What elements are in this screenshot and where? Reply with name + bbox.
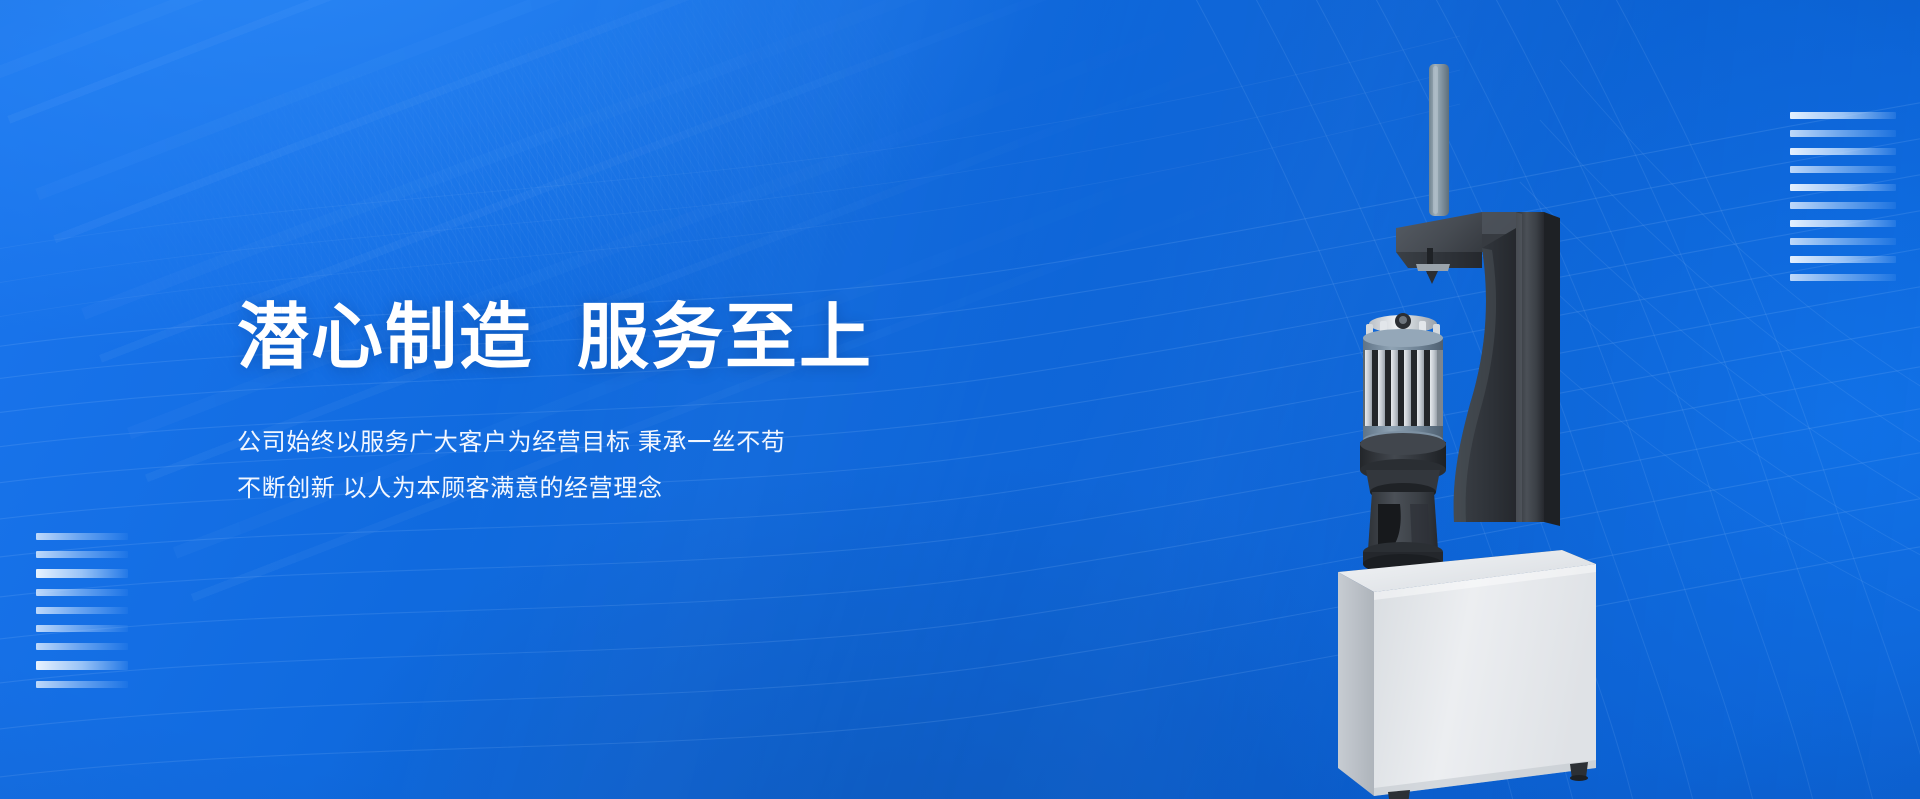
hero-subcopy-line-2: 不断创新 以人为本顾客满意的经营理念	[237, 466, 997, 512]
hero-copy-block: 潜心制造 服务至上 公司始终以服务广大客户为经营目标 秉承一丝不苟 不断创新 以…	[237, 300, 997, 512]
accent-bar	[36, 533, 128, 540]
machine-support-post	[1516, 212, 1560, 526]
accent-bar	[1790, 202, 1896, 209]
left-accent-bars	[36, 533, 128, 688]
right-accent-bars	[1790, 112, 1896, 281]
accent-bar	[36, 607, 128, 614]
accent-bar	[36, 681, 128, 688]
accent-bar	[1790, 112, 1896, 119]
accent-bar	[36, 589, 128, 596]
accent-bar	[1790, 148, 1896, 155]
machine-finned-cylinder	[1363, 313, 1443, 449]
accent-bar	[36, 661, 128, 670]
hero-banner: 潜心制造 服务至上 公司始终以服务广大客户为经营目标 秉承一丝不苟 不断创新 以…	[0, 0, 1920, 799]
accent-bar	[36, 569, 128, 578]
machine-curved-brace	[1454, 228, 1516, 522]
machine-guide-column	[1429, 64, 1449, 216]
hero-subcopy: 公司始终以服务广大客户为经营目标 秉承一丝不苟 不断创新 以人为本顾客满意的经营…	[237, 420, 997, 512]
hero-headline: 潜心制造 服务至上	[237, 300, 997, 376]
accent-bar	[36, 625, 128, 632]
accent-bar	[1790, 130, 1896, 137]
accent-bar	[1790, 166, 1896, 173]
industrial-machine-illustration	[1330, 52, 1660, 799]
accent-bar	[1790, 238, 1896, 245]
accent-bar	[36, 551, 128, 558]
machine-pedestal-neck	[1363, 492, 1443, 574]
machine-cabinet	[1338, 550, 1596, 796]
hero-subcopy-line-1: 公司始终以服务广大客户为经营目标 秉承一丝不苟	[237, 420, 997, 466]
accent-bar	[36, 643, 128, 650]
machine-collar-housing	[1360, 433, 1446, 501]
accent-bar	[1790, 220, 1896, 227]
accent-bar	[1790, 274, 1896, 281]
accent-bar	[1790, 256, 1896, 263]
accent-bar	[1790, 184, 1896, 191]
